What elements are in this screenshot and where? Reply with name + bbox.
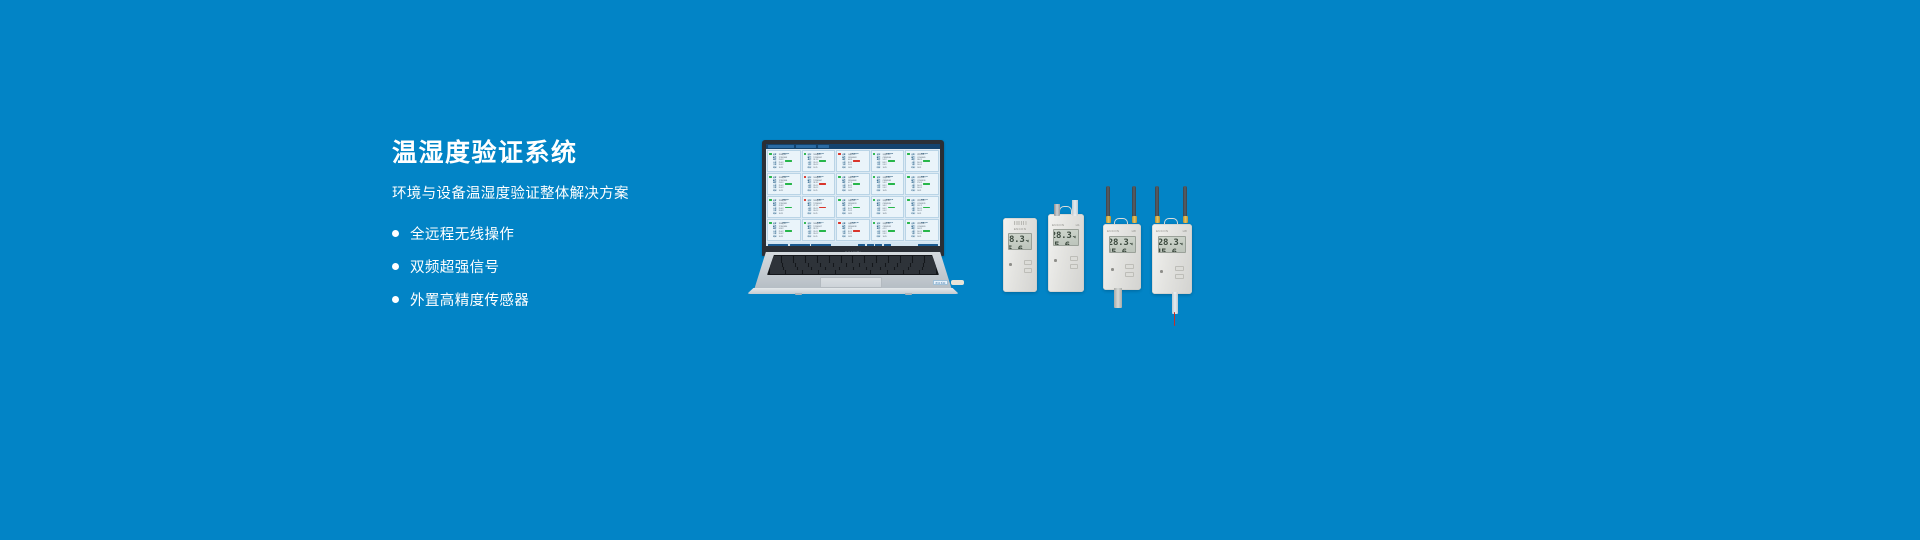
monitoring-card[interactable]: 监测点13设备：冷藏库-05编号：CS2001013温度：6.2°C上限：8.0… bbox=[836, 196, 870, 218]
monitoring-card[interactable]: 监测点12设备：恒温箱-06编号：TC2001012温度：27.1°C上限：25… bbox=[802, 196, 836, 218]
device-logger-probe: ENCON H1 28.3 ℃ 45.6 %RH RH bbox=[1048, 214, 1084, 292]
lcd-humidity-unit: %RH bbox=[1128, 252, 1133, 253]
card-field-row: 时间：10:25 bbox=[842, 191, 868, 194]
card-field-value: 10:25 bbox=[848, 214, 852, 217]
card-field-value: 10:25 bbox=[779, 237, 783, 240]
monitoring-card[interactable]: 监测点18设备：冷藏库-07编号：CS2001018温度：9.3°C上限：8.0… bbox=[836, 219, 870, 241]
device-lcd-display: 28.3 ℃ 45.6 %RH RH bbox=[1053, 229, 1079, 246]
monitoring-card[interactable]: 监测点04设备：冷藏库-02编号：CS2001004温度：5.2°C上限：8.0… bbox=[871, 150, 905, 172]
device-status-led bbox=[1054, 259, 1057, 262]
status-badge bbox=[923, 160, 930, 162]
keyboard-key[interactable] bbox=[920, 270, 935, 273]
card-field-label: 时间： bbox=[808, 168, 813, 171]
device-humidity-probe bbox=[1072, 200, 1078, 216]
monitoring-card[interactable]: 监测点11设备：恒温箱-05编号：TC2001011温度：22.8°C上限：25… bbox=[767, 196, 801, 218]
laptop-base: 验证系统 bbox=[720, 252, 986, 300]
monitoring-card[interactable]: 监测点19设备：冷藏库-08编号：CS2001019温度：4.1°C上限：8.0… bbox=[871, 219, 905, 241]
page-prev-button[interactable] bbox=[867, 244, 874, 246]
card-field-label: 时间： bbox=[808, 191, 813, 194]
monitoring-card[interactable]: 监测点15设备：阴凉库-03编号：YL2001015温度：19.1°C上限：20… bbox=[905, 196, 939, 218]
card-field-label: 时间： bbox=[842, 237, 847, 240]
card-field-label: 时间： bbox=[877, 191, 882, 194]
card-field-value: 10:25 bbox=[848, 237, 852, 240]
status-badge bbox=[785, 230, 792, 232]
bullet-dot-icon bbox=[392, 263, 399, 270]
lcd-humidity-line: 45.6 %RH bbox=[1161, 248, 1183, 253]
lcd-temperature-line: 28.3 ℃ bbox=[1161, 238, 1183, 248]
laptop-product-image: 监测点01设备：恒温箱-01编号：TC2001001温度：23.5°C上限：25… bbox=[720, 140, 986, 300]
card-status-led-icon bbox=[838, 222, 841, 225]
card-field-label: 时间： bbox=[842, 214, 847, 217]
list-item: 双频超强信号 bbox=[392, 256, 722, 277]
card-field-value: 10:25 bbox=[813, 237, 817, 240]
card-status-led-icon bbox=[838, 199, 841, 202]
status-badge bbox=[923, 230, 930, 232]
device-antenna-connector-left bbox=[1155, 216, 1160, 223]
lcd-temperature-unit: ℃ bbox=[1130, 242, 1133, 246]
lcd-temperature-value: 28.3 bbox=[1158, 238, 1179, 248]
device-brand-label: ENCON bbox=[1003, 227, 1037, 231]
monitoring-card[interactable]: 监测点16设备：恒温箱-07编号：TC2001016温度：24.6°C上限：25… bbox=[767, 219, 801, 241]
card-field-label: 时间： bbox=[773, 214, 778, 217]
lcd-temperature-unit: ℃ bbox=[1073, 235, 1076, 239]
laptop-lid: 监测点01设备：恒温箱-01编号：TC2001001温度：23.5°C上限：25… bbox=[762, 140, 944, 256]
device-button-up[interactable] bbox=[1070, 256, 1078, 261]
card-field-row: 时间：10:25 bbox=[877, 214, 903, 217]
card-field-label: 时间： bbox=[911, 191, 916, 194]
app-tab-history[interactable] bbox=[796, 145, 816, 149]
app-tab-monitor[interactable] bbox=[768, 145, 794, 149]
card-field-row: 时间：10:25 bbox=[877, 168, 903, 171]
card-status-led-icon bbox=[873, 153, 876, 156]
lcd-humidity-line: 45.6 %RH bbox=[1011, 245, 1029, 250]
keyboard-key[interactable] bbox=[786, 270, 801, 273]
card-field-label: 时间： bbox=[911, 168, 916, 171]
card-field-label: 时间： bbox=[842, 191, 847, 194]
card-status-led-icon bbox=[873, 222, 876, 225]
card-field-row: 时间：10:25 bbox=[842, 214, 868, 217]
card-status-led-icon bbox=[804, 199, 807, 202]
print-button[interactable] bbox=[790, 244, 810, 246]
device-hanging-hook-icon bbox=[1059, 206, 1072, 214]
lcd-temperature-value: 28.3 bbox=[1008, 235, 1025, 245]
card-status-led-icon bbox=[769, 153, 772, 156]
card-field-label: 时间： bbox=[842, 168, 847, 171]
card-status-led-icon bbox=[907, 222, 910, 225]
lcd-humidity-unit: %RH bbox=[1071, 245, 1076, 246]
card-field-label: 时间： bbox=[911, 237, 916, 240]
device-antenna-connector-left bbox=[1106, 216, 1111, 223]
page-first-button[interactable] bbox=[858, 244, 865, 246]
keyboard-row bbox=[770, 270, 936, 273]
card-status-led-icon bbox=[804, 176, 807, 179]
monitoring-card-grid: 监测点01设备：恒温箱-01编号：TC2001001温度：23.5°C上限：25… bbox=[766, 149, 940, 242]
lcd-humidity-value: 45.6 bbox=[1008, 245, 1023, 250]
monitoring-card[interactable]: 监测点02设备：恒温箱-02编号：TC2001002温度：24.1°C上限：25… bbox=[802, 150, 836, 172]
device-antenna-right bbox=[1132, 186, 1136, 218]
app-footer-bar bbox=[766, 242, 940, 246]
device-probe-wire bbox=[1174, 312, 1175, 326]
keyboard-key[interactable] bbox=[803, 270, 818, 273]
feature-bullet-label: 外置高精度传感器 bbox=[410, 289, 529, 310]
lcd-temperature-line: 28.3 ℃ bbox=[1011, 235, 1029, 245]
device-logger-compact: ENCON 28.3 ℃ 45.6 %RH RH bbox=[1003, 218, 1037, 292]
card-field-row: 时间：10:25 bbox=[911, 168, 937, 171]
device-humidity-probe bbox=[1172, 292, 1178, 314]
laptop-sticker-label: 验证系统 bbox=[933, 280, 948, 285]
laptop-sticker-secondary bbox=[951, 280, 964, 285]
card-field-row: 时间：10:25 bbox=[842, 237, 868, 240]
card-field-value: 10:25 bbox=[917, 191, 921, 194]
status-badge bbox=[888, 160, 895, 162]
status-badge bbox=[888, 230, 895, 232]
device-temperature-probe bbox=[1054, 204, 1060, 216]
card-status-led-icon bbox=[907, 153, 910, 156]
status-badge bbox=[853, 230, 860, 232]
device-button-up[interactable] bbox=[1024, 260, 1032, 265]
feature-bullet-label: 双频超强信号 bbox=[410, 256, 499, 277]
card-field-value: 10:25 bbox=[779, 214, 783, 217]
card-field-label: 时间： bbox=[877, 214, 882, 217]
device-antenna-connector-right bbox=[1183, 216, 1188, 223]
export-button[interactable] bbox=[811, 244, 831, 246]
card-status-led-icon bbox=[873, 176, 876, 179]
device-temperature-probe bbox=[1114, 288, 1122, 308]
list-item: 全远程无线操作 bbox=[392, 223, 722, 244]
status-badge bbox=[819, 230, 826, 232]
status-badge bbox=[853, 160, 860, 162]
card-field-value: 10:25 bbox=[779, 168, 783, 171]
card-field-row: 时间：10:25 bbox=[842, 168, 868, 171]
keyboard-key[interactable] bbox=[836, 270, 870, 273]
bullet-dot-icon bbox=[392, 296, 399, 303]
device-button-down[interactable] bbox=[1024, 268, 1032, 273]
device-vent-grille bbox=[1014, 221, 1027, 225]
lcd-humidity-value: 45.6 bbox=[1158, 248, 1177, 253]
feature-bullet-list: 全远程无线操作 双频超强信号 外置高精度传感器 bbox=[392, 223, 722, 310]
status-badge bbox=[785, 160, 792, 162]
device-antenna-left bbox=[1106, 186, 1110, 218]
device-button-up[interactable] bbox=[1175, 266, 1184, 271]
card-field-row: 时间：10:25 bbox=[877, 191, 903, 194]
lcd-humidity-line: 45.6 %RH bbox=[1112, 248, 1133, 253]
card-field-row: 时间：10:25 bbox=[911, 191, 937, 194]
hero-copy-block: 温湿度验证系统 环境与设备温湿度验证整体解决方案 全远程无线操作 双频超强信号 … bbox=[392, 138, 722, 322]
card-field-value: 10:25 bbox=[883, 168, 887, 171]
page-last-button[interactable] bbox=[884, 244, 891, 246]
card-field-value: 10:25 bbox=[848, 191, 852, 194]
page-next-button[interactable] bbox=[875, 244, 882, 246]
card-status-led-icon bbox=[838, 153, 841, 156]
laptop-keyboard[interactable] bbox=[767, 255, 939, 275]
laptop-feet bbox=[747, 293, 959, 295]
card-field-row: 时间：10:25 bbox=[808, 191, 834, 194]
card-field-value: 10:25 bbox=[779, 191, 783, 194]
card-field-label: 时间： bbox=[877, 168, 882, 171]
lcd-humidity-unit: %RH bbox=[1178, 252, 1183, 253]
card-field-label: 时间： bbox=[911, 214, 916, 217]
card-field-row: 时间：10:25 bbox=[808, 214, 834, 217]
monitoring-card[interactable]: 监测点08设备：冷藏库-03编号：CS2001008温度：4.7°C上限：8.0… bbox=[836, 173, 870, 195]
list-item: 外置高精度传感器 bbox=[392, 289, 722, 310]
page-subtitle: 环境与设备温湿度验证整体解决方案 bbox=[392, 185, 722, 204]
logout-button[interactable] bbox=[918, 244, 938, 246]
monitoring-card[interactable]: 监测点20设备：阴凉库-04编号：YL2001020温度：16.8°C上限：20… bbox=[905, 219, 939, 241]
keyboard-key[interactable] bbox=[904, 270, 919, 273]
feature-bullet-label: 全远程无线操作 bbox=[410, 223, 514, 244]
monitoring-card[interactable]: 监测点17设备：恒温箱-08编号：TC2001017温度：23.2°C上限：25… bbox=[802, 219, 836, 241]
card-field-value: 10:25 bbox=[917, 168, 921, 171]
card-field-value: 10:25 bbox=[917, 237, 921, 240]
device-antenna-left bbox=[1155, 186, 1159, 218]
card-field-row: 时间：10:25 bbox=[911, 237, 937, 240]
monitoring-card[interactable]: 监测点01设备：恒温箱-01编号：TC2001001温度：23.5°C上限：25… bbox=[767, 150, 801, 172]
card-status-led-icon bbox=[769, 176, 772, 179]
card-field-label: 时间： bbox=[808, 214, 813, 217]
lcd-temperature-unit: ℃ bbox=[1180, 242, 1183, 246]
device-logger-dual-band-2: ENCON H8 28.3 ℃ 45.6 %RH RH bbox=[1152, 224, 1192, 294]
card-field-row: 时间：10:25 bbox=[877, 237, 903, 240]
monitoring-card[interactable]: 监测点14设备：冷藏库-06编号：CS2001014温度：3.4°C上限：8.0… bbox=[871, 196, 905, 218]
device-lcd-display: 28.3 ℃ 45.6 %RH RH bbox=[1158, 236, 1186, 253]
lcd-temperature-value: 28.3 bbox=[1053, 231, 1072, 241]
card-status-led-icon bbox=[804, 222, 807, 225]
card-field-row: 时间：10:25 bbox=[911, 214, 937, 217]
lcd-humidity-value: 45.6 bbox=[1109, 248, 1127, 253]
card-field-row: 时间：10:25 bbox=[773, 168, 799, 171]
card-field-label: 时间： bbox=[773, 168, 778, 171]
card-field-row: 时间：10:25 bbox=[773, 214, 799, 217]
device-button-up[interactable] bbox=[1125, 264, 1134, 269]
keyboard-key[interactable] bbox=[871, 270, 886, 273]
monitoring-card[interactable]: 监测点09设备：冷藏库-04编号：CS2001009温度：5.9°C上限：8.0… bbox=[871, 173, 905, 195]
card-field-row: 时间：10:25 bbox=[808, 168, 834, 171]
card-field-value: 10:25 bbox=[813, 214, 817, 217]
monitoring-card[interactable]: 监测点07设备：恒温箱-04编号：TC2001007温度：26.3°C上限：25… bbox=[802, 173, 836, 195]
card-field-label: 时间： bbox=[773, 237, 778, 240]
refresh-button[interactable] bbox=[768, 244, 788, 246]
monitoring-card[interactable]: 监测点05设备：阴凉库-01编号：YL2001005温度：18.4°C上限：20… bbox=[905, 150, 939, 172]
card-status-led-icon bbox=[838, 176, 841, 179]
keyboard-key[interactable] bbox=[770, 270, 785, 273]
card-field-row: 时间：10:25 bbox=[773, 237, 799, 240]
device-model-label: H8 bbox=[1103, 229, 1141, 233]
status-badge bbox=[819, 160, 826, 162]
card-status-led-icon bbox=[907, 199, 910, 202]
lcd-temperature-value: 28.3 bbox=[1109, 238, 1129, 248]
bullet-dot-icon bbox=[392, 230, 399, 237]
card-status-led-icon bbox=[907, 176, 910, 179]
monitoring-card[interactable]: 监测点06设备：恒温箱-03编号：TC2001006温度：23.9°C上限：25… bbox=[767, 173, 801, 195]
card-field-value: 10:25 bbox=[883, 191, 887, 194]
card-field-value: 10:25 bbox=[883, 214, 887, 217]
device-logger-dual-band-1: ENCON H8 28.3 ℃ 45.6 %RH RH bbox=[1103, 224, 1141, 290]
device-button-down[interactable] bbox=[1125, 272, 1134, 277]
card-field-label: 时间： bbox=[773, 191, 778, 194]
device-button-down[interactable] bbox=[1070, 264, 1078, 269]
card-field-row: 时间：10:25 bbox=[773, 191, 799, 194]
device-model-label: H8 bbox=[1152, 229, 1192, 233]
device-lcd-display: 28.3 ℃ 45.6 %RH RH bbox=[1008, 233, 1032, 250]
card-status-led-icon bbox=[804, 153, 807, 156]
lcd-humidity-value: 45.6 bbox=[1053, 241, 1070, 246]
card-field-label: 时间： bbox=[808, 237, 813, 240]
lcd-temperature-line: 28.3 ℃ bbox=[1056, 231, 1076, 241]
card-status-led-icon bbox=[769, 222, 772, 225]
card-field-value: 10:25 bbox=[848, 168, 852, 171]
lcd-humidity-line: 45.6 %RH bbox=[1056, 241, 1076, 246]
page-title: 温湿度验证系统 bbox=[392, 138, 722, 168]
device-button-down[interactable] bbox=[1175, 274, 1184, 279]
device-status-led bbox=[1009, 263, 1012, 266]
lcd-temperature-line: 28.3 ℃ bbox=[1112, 238, 1133, 248]
card-field-value: 10:25 bbox=[813, 191, 817, 194]
device-status-led bbox=[1160, 270, 1163, 273]
card-field-label: 时间： bbox=[877, 237, 882, 240]
device-antenna-right bbox=[1183, 186, 1187, 218]
device-status-led bbox=[1111, 268, 1114, 271]
device-antenna-connector-right bbox=[1132, 216, 1137, 223]
keyboard-key[interactable] bbox=[819, 270, 834, 273]
app-tab-alarm[interactable] bbox=[818, 145, 829, 149]
device-lcd-display: 28.3 ℃ 45.6 %RH RH bbox=[1109, 236, 1136, 253]
card-field-value: 10:25 bbox=[813, 168, 817, 171]
laptop-trackpad[interactable] bbox=[820, 277, 882, 288]
card-status-led-icon bbox=[873, 199, 876, 202]
monitoring-card[interactable]: 监测点03设备：冷藏库-01编号：CS2001003温度：6.8°C上限：8.0… bbox=[836, 150, 870, 172]
card-status-led-icon bbox=[769, 199, 772, 202]
lcd-temperature-unit: ℃ bbox=[1026, 239, 1029, 243]
lcd-humidity-unit: %RH bbox=[1024, 249, 1029, 250]
keyboard-key[interactable] bbox=[888, 270, 903, 273]
device-model-label: H1 bbox=[1048, 223, 1084, 227]
card-field-value: 10:25 bbox=[917, 214, 921, 217]
monitoring-card[interactable]: 监测点10设备：阴凉库-02编号：YL2001010温度：17.6°C上限：20… bbox=[905, 173, 939, 195]
laptop-screen: 监测点01设备：恒温箱-01编号：TC2001001温度：23.5°C上限：25… bbox=[766, 144, 940, 246]
card-field-row: 时间：10:25 bbox=[808, 237, 834, 240]
card-field-value: 10:25 bbox=[883, 237, 887, 240]
